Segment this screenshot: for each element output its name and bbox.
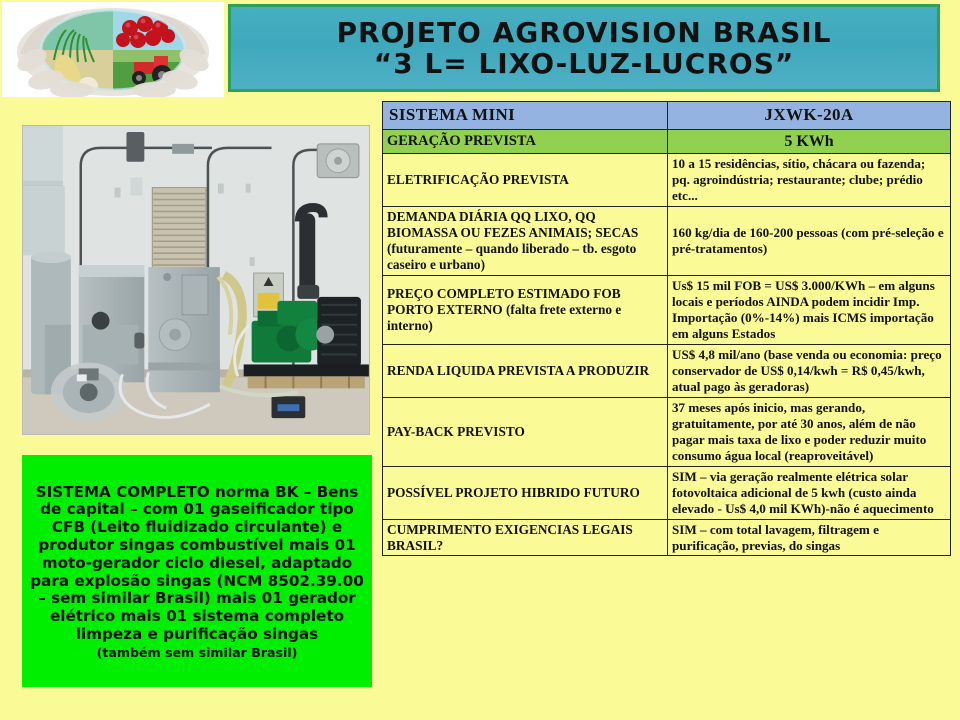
- table-row: CUMPRIMENTO EXIGENCIAS LEGAIS BRASIL? SI…: [383, 519, 951, 556]
- page-title-line1: PROJETO AGROVISION BRASIL: [337, 17, 832, 48]
- agrovision-hands-globe-logo: [2, 2, 224, 97]
- row-value: 37 meses após inicio, mas gerando, gratu…: [668, 397, 951, 466]
- row-key: RENDA LIQUIDA PREVISTA A PRODUZIR: [383, 344, 668, 397]
- table-row: POSSÍVEL PROJETO HIBRIDO FUTURO SIM – vi…: [383, 466, 951, 519]
- table-header-value: JXWK-20A: [668, 102, 951, 130]
- table-header-key: SISTEMA MINI: [383, 102, 668, 130]
- row-value: SIM – via geração realmente elétrica sol…: [668, 466, 951, 519]
- row-key: CUMPRIMENTO EXIGENCIAS LEGAIS BRASIL?: [383, 519, 668, 556]
- row-value: 10 a 15 residências, sítio, chácara ou f…: [668, 154, 951, 207]
- row-value: SIM – com total lavagem, filtragem e pur…: [668, 519, 951, 556]
- table-row: PREÇO COMPLETO ESTIMADO FOB PORTO EXTERN…: [383, 275, 951, 344]
- page-title-line2: “3 L= LIXO-LUZ-LUCROS”: [374, 48, 795, 79]
- row-key: PREÇO COMPLETO ESTIMADO FOB PORTO EXTERN…: [383, 275, 668, 344]
- table-header-row: SISTEMA MINI JXWK-20A: [383, 102, 951, 130]
- row-key: GERAÇÃO PREVISTA: [383, 129, 668, 154]
- row-key: ELETRIFICAÇÃO PREVISTA: [383, 154, 668, 207]
- row-key: DEMANDA DIÁRIA QQ LIXO, QQ BIOMASSA OU F…: [383, 207, 668, 276]
- table-row: DEMANDA DIÁRIA QQ LIXO, QQ BIOMASSA OU F…: [383, 207, 951, 276]
- table-row: RENDA LIQUIDA PREVISTA A PRODUZIR US$ 4,…: [383, 344, 951, 397]
- gasifier-generator-installation-photo: [22, 125, 370, 435]
- row-key: POSSÍVEL PROJETO HIBRIDO FUTURO: [383, 466, 668, 519]
- slide-root: PROJETO AGROVISION BRASIL “3 L= LIXO-LUZ…: [0, 0, 960, 720]
- row-value: US$ 4,8 mil/ano (base venda ou economia:…: [668, 344, 951, 397]
- system-description-footnote: (também sem similar Brasil): [30, 646, 364, 661]
- table-row: PAY-BACK PREVISTO 37 meses após inicio, …: [383, 397, 951, 466]
- row-value: 160 kg/dia de 160-200 pessoas (com pré-s…: [668, 207, 951, 276]
- row-value: 5 KWh: [668, 129, 951, 154]
- table-row: ELETRIFICAÇÃO PREVISTA 10 a 15 residênci…: [383, 154, 951, 207]
- table-body: SISTEMA MINI JXWK-20A GERAÇÃO PREVISTA 5…: [383, 102, 951, 556]
- system-description-text: SISTEMA COMPLETO norma BK – Bens de capi…: [30, 484, 364, 644]
- row-key: PAY-BACK PREVISTO: [383, 397, 668, 466]
- system-description-box: SISTEMA COMPLETO norma BK – Bens de capi…: [22, 455, 372, 687]
- title-banner: PROJETO AGROVISION BRASIL “3 L= LIXO-LUZ…: [228, 4, 940, 92]
- table-row: GERAÇÃO PREVISTA 5 KWh: [383, 129, 951, 154]
- specifications-table: SISTEMA MINI JXWK-20A GERAÇÃO PREVISTA 5…: [382, 101, 951, 556]
- row-value: Us$ 15 mil FOB = US$ 3.000/KWh – em algu…: [668, 275, 951, 344]
